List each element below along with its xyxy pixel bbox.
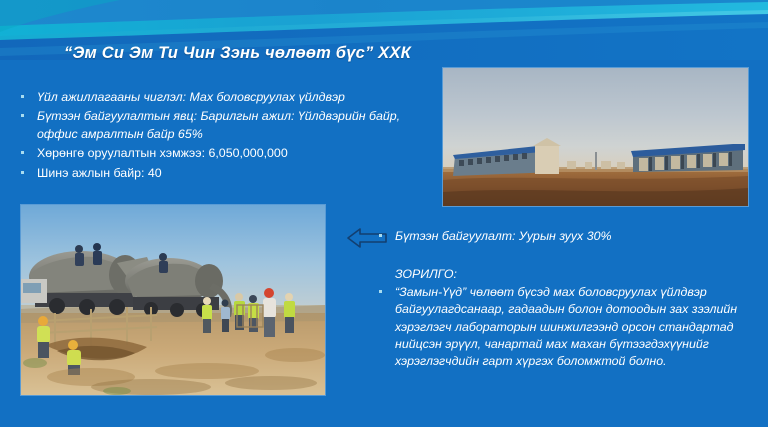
goal-heading: ЗОРИЛГО: bbox=[395, 266, 762, 283]
presentation-slide: “Эм Си Эм Ти Чин Зэнь чөлөөт бүс” ХХК Үй… bbox=[0, 0, 768, 427]
goal-block: ЗОРИЛГО: “Замын-Үүд” чөлөөт бүсэд мах бо… bbox=[374, 266, 762, 372]
factory-buildings-photo bbox=[443, 68, 748, 206]
concrete-pouring-photo bbox=[21, 205, 325, 395]
right-progress-list: Бүтээн байгуулалт: Уурын зуух 30% bbox=[374, 228, 754, 247]
list-item: Бүтээн байгуулалтын явц: Барилгын ажил: … bbox=[16, 108, 416, 143]
list-item: Бүтээн байгуулалт: Уурын зуух 30% bbox=[374, 228, 754, 245]
list-item: “Замын-Үүд” чөлөөт бүсэд мах боловсруула… bbox=[374, 284, 762, 370]
left-item-1-text: Бүтээн байгуулалтын явц: Барилгын ажил: … bbox=[37, 109, 400, 140]
list-item: Шинэ ажлын байр: 40 bbox=[16, 165, 416, 182]
list-item: Хөрөнгө оруулалтын хэмжээ: 6,050,000,000 bbox=[16, 145, 416, 162]
left-item-0-text: Үйл ажиллагааны чиглэл: Мах боловсруулах… bbox=[37, 90, 345, 104]
goal-text: “Замын-Үүд” чөлөөт бүсэд мах боловсруула… bbox=[395, 285, 737, 368]
list-item: Үйл ажиллагааны чиглэл: Мах боловсруулах… bbox=[16, 89, 416, 106]
progress-item-text: Бүтээн байгуулалт: Уурын зуух 30% bbox=[395, 229, 612, 243]
left-item-2-text: Хөрөнгө оруулалтын хэмжээ: 6,050,000,000 bbox=[37, 146, 288, 160]
left-bullet-list: Үйл ажиллагааны чиглэл: Мах боловсруулах… bbox=[16, 89, 416, 184]
slide-title: “Эм Си Эм Ти Чин Зэнь чөлөөт бүс” ХХК bbox=[64, 44, 411, 63]
left-item-3-text: Шинэ ажлын байр: 40 bbox=[37, 166, 162, 180]
